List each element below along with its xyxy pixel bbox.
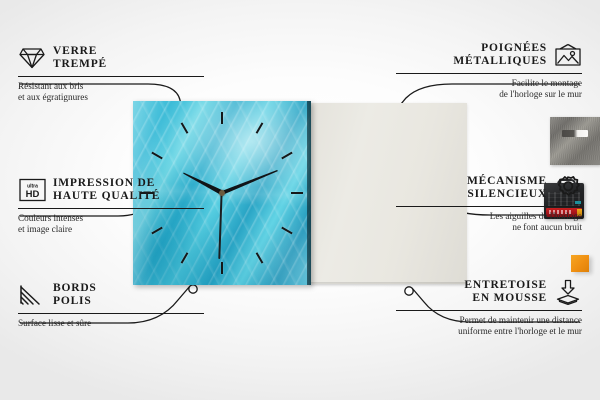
feature-bords-polis: BORDS POLIS Surface lisse et sûre [18,281,204,329]
feature-description: Permet de maintenir une distance uniform… [396,315,582,337]
clock-tick [221,112,223,124]
feature-poignees-metalliques: POIGNÉES MÉTALLIQUES Facilite le montage… [396,41,582,100]
foam-spacer-part [571,255,589,272]
handle-slot [562,130,588,137]
polished-edges-icon [18,281,46,309]
feature-divider [396,73,582,74]
feature-divider [396,310,582,311]
feature-description: Les aiguilles de l'horloge ne font aucun… [396,211,582,233]
feature-header: POIGNÉES MÉTALLIQUES [396,41,582,69]
feature-impression-haute-qualite: ultra HD IMPRESSION DE HAUTE QUALITÉ Cou… [18,176,204,235]
feature-header: BORDS POLIS [18,281,204,309]
infographic-canvas: VERRE TREMPÉ Résistant aux bris et aux é… [0,0,600,400]
feature-entretoise-en-mousse: ENTRETOISE EN MOUSSE Permet de maintenir… [396,278,582,337]
feature-title: VERRE TREMPÉ [53,45,107,72]
clock-glass-edge [307,101,311,285]
ultra-hd-icon: ultra HD [18,176,46,204]
feature-header: ENTRETOISE EN MOUSSE [396,278,582,306]
feature-header: VERRE TREMPÉ [18,44,204,72]
clock-tick [291,192,303,194]
clock-tick [221,262,223,274]
feature-description: Facilite le montage de l'horloge sur le … [396,78,582,100]
gear-icon [554,174,582,202]
metal-handle-part [550,117,600,165]
feature-title: IMPRESSION DE HAUTE QUALITÉ [53,177,160,204]
feature-description: Surface lisse et sûre [18,318,204,329]
picture-hanger-icon [554,41,582,69]
feature-verre-trempe: VERRE TREMPÉ Résistant aux bris et aux é… [18,44,204,103]
feature-title: MÉCANISME SILENCIEUX [467,175,547,202]
feature-description: Résistant aux bris et aux égratignures [18,81,204,103]
clock-center-cap [219,190,225,196]
feature-header: MÉCANISME SILENCIEUX [396,174,582,202]
feature-description: Couleurs intenses et image claire [18,213,204,235]
feature-header: ultra HD IMPRESSION DE HAUTE QUALITÉ [18,176,204,204]
feature-divider [18,208,204,209]
feature-divider [18,76,204,77]
feature-title: BORDS POLIS [53,282,97,309]
feature-title: POIGNÉES MÉTALLIQUES [453,42,547,69]
diamond-icon [18,44,46,72]
svg-text:HD: HD [25,189,39,200]
feature-mecanisme-silencieux: MÉCANISME SILENCIEUX Les aiguilles de l'… [396,174,582,233]
feature-divider [18,313,204,314]
foam-spacer-icon [554,278,582,306]
feature-title: ENTRETOISE EN MOUSSE [464,279,547,306]
feature-divider [396,206,582,207]
metal-grain-texture [550,117,600,165]
